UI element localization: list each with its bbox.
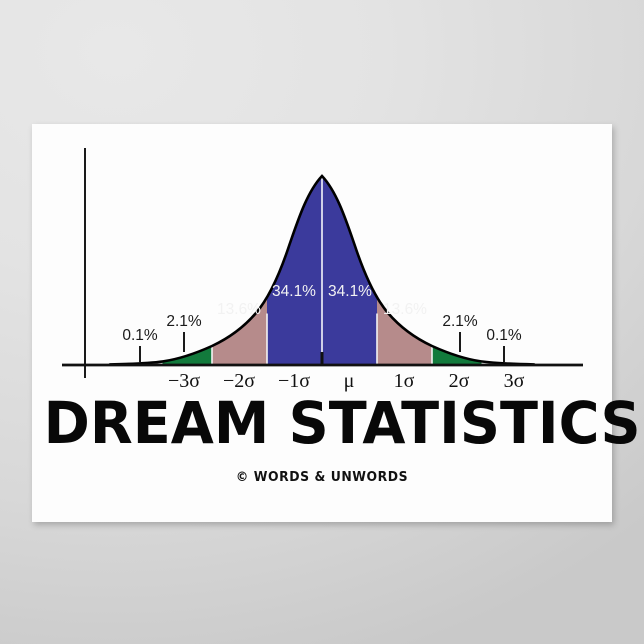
label-2-1-right: 2.1% bbox=[442, 313, 478, 330]
copyright-credit: © WORDS & UNWORDS bbox=[55, 469, 589, 485]
page-title: DREAM STATISTICS bbox=[44, 394, 601, 453]
label-34-1-right: 34.1% bbox=[328, 283, 372, 300]
title-block: DREAM STATISTICS © WORDS & UNWORDS bbox=[32, 394, 612, 485]
normal-distribution-chart: 13.6% 34.1% 34.1% 13.6% 0.1% 2.1% 2.1% 0… bbox=[32, 124, 612, 396]
poster-sheet: 13.6% 34.1% 34.1% 13.6% 0.1% 2.1% 2.1% 0… bbox=[32, 124, 612, 522]
label-0-1-right: 0.1% bbox=[486, 327, 522, 344]
poster-stage: 13.6% 34.1% 34.1% 13.6% 0.1% 2.1% 2.1% 0… bbox=[0, 0, 644, 644]
label-0-1-left: 0.1% bbox=[122, 327, 158, 344]
label-2-1-left: 2.1% bbox=[166, 313, 202, 330]
label-13-6-right: 13.6% bbox=[383, 301, 427, 318]
label-34-1-left: 34.1% bbox=[272, 283, 316, 300]
label-13-6-left: 13.6% bbox=[217, 301, 261, 318]
